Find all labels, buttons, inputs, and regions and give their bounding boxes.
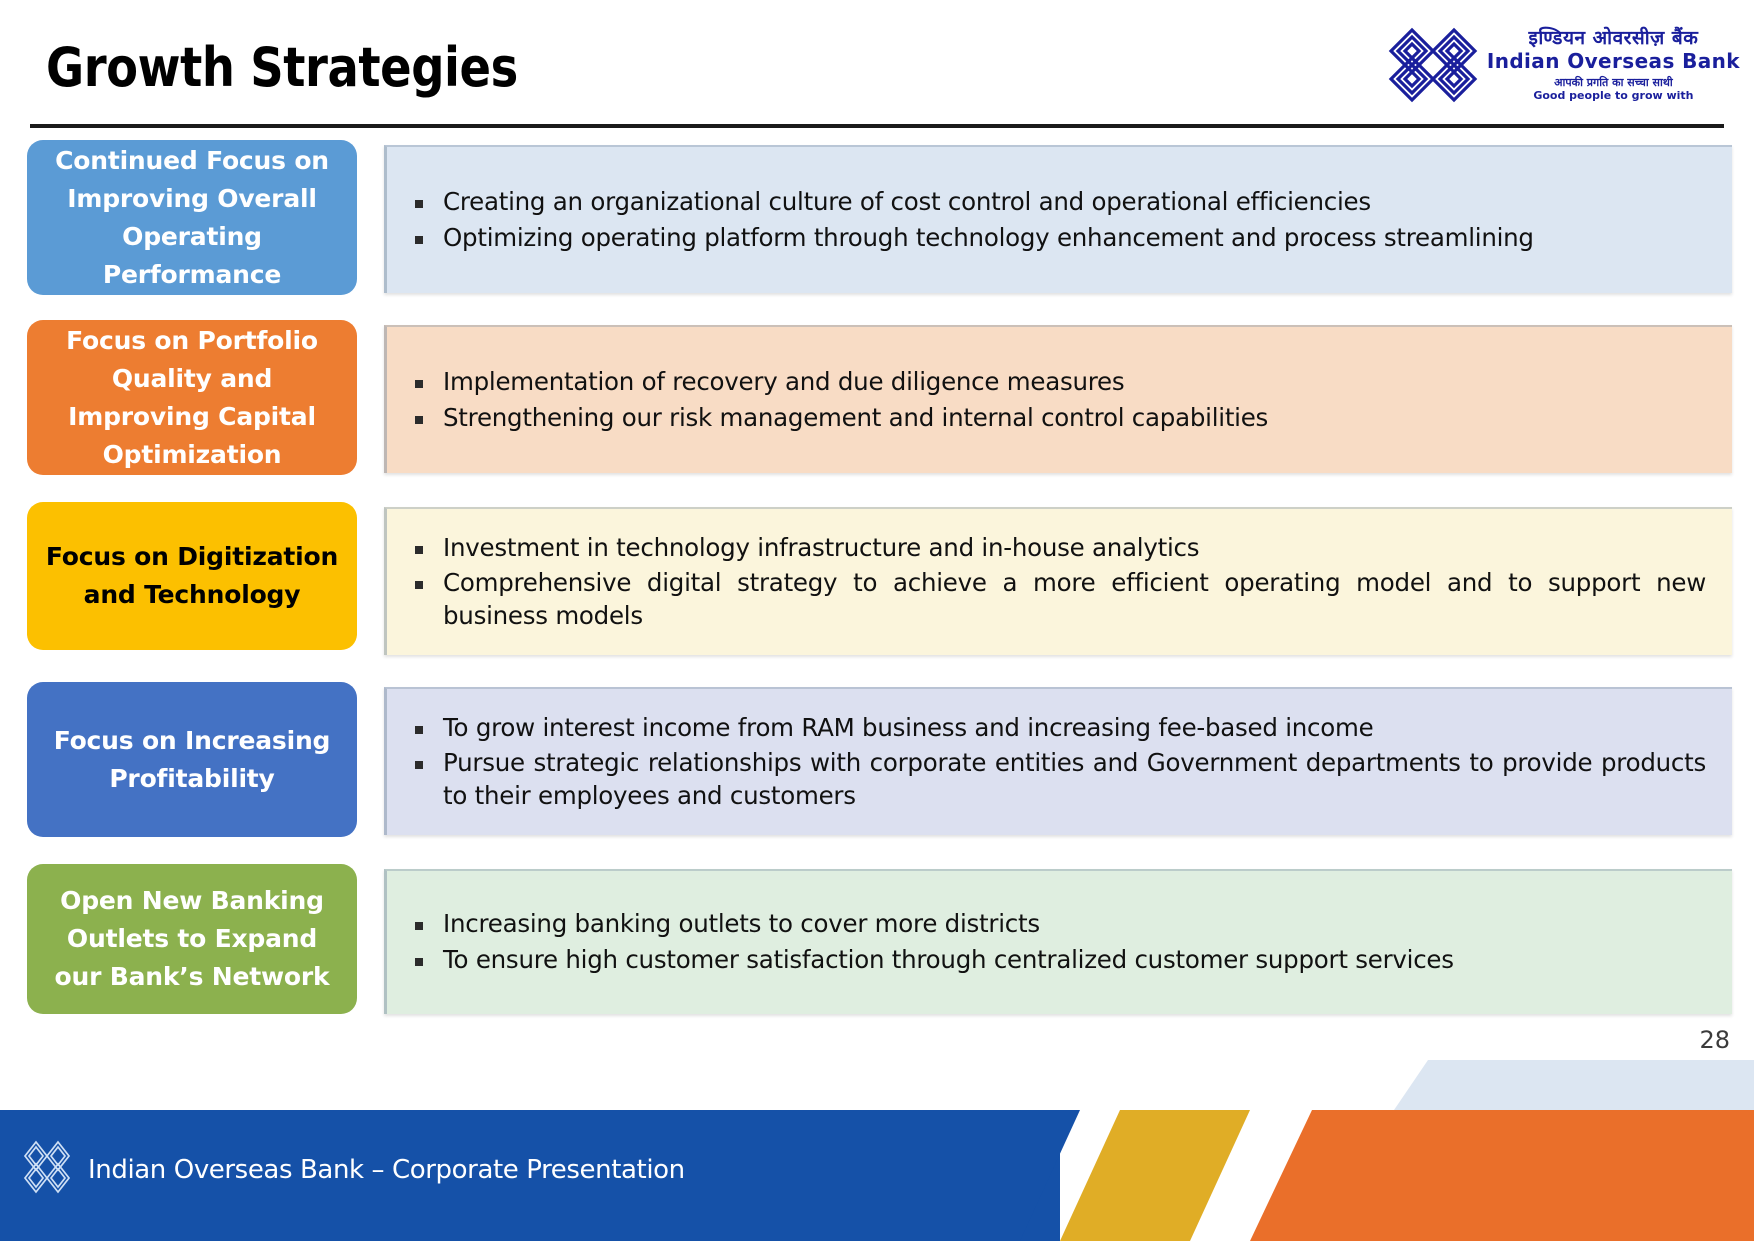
- bullet-list: To grow interest income from RAM busines…: [413, 709, 1706, 816]
- strategy-content-5: Increasing banking outlets to cover more…: [384, 869, 1732, 1014]
- strategy-label-3[interactable]: Focus on Digitization and Technology: [27, 502, 357, 650]
- slide: Growth Strategies: [0, 0, 1754, 1241]
- bullet-list: Increasing banking outlets to cover more…: [413, 905, 1706, 979]
- list-item: Increasing banking outlets to cover more…: [413, 908, 1706, 941]
- bullet-list: Implementation of recovery and due dilig…: [413, 363, 1706, 437]
- page-title: Growth Strategies: [46, 36, 518, 99]
- strategy-content-2: Implementation of recovery and due dilig…: [384, 325, 1732, 473]
- footer-logo-icon: [24, 1140, 70, 1208]
- footer-text: Indian Overseas Bank – Corporate Present…: [88, 1155, 685, 1185]
- footer-light-band: [1394, 1060, 1754, 1110]
- slide-footer: Indian Overseas Bank – Corporate Present…: [0, 1060, 1754, 1241]
- strategy-row: Focus on Increasing Profitability To gro…: [0, 682, 1754, 842]
- list-item: Implementation of recovery and due dilig…: [413, 366, 1706, 399]
- strategy-label-1[interactable]: Continued Focus on Improving Overall Ope…: [27, 140, 357, 295]
- footer-yellow-wedge: [1060, 1110, 1250, 1241]
- slide-header: Growth Strategies: [0, 0, 1754, 132]
- list-item: Optimizing operating platform through te…: [413, 222, 1706, 255]
- logo-hindi-name: इण्डियन ओवरसीज़ बैंक: [1529, 28, 1699, 50]
- logo-english-name: Indian Overseas Bank: [1487, 50, 1740, 73]
- list-item: Strengthening our risk management and in…: [413, 402, 1706, 435]
- header-divider: [30, 124, 1724, 128]
- logo-wordmark: इण्डियन ओवरसीज़ बैंक Indian Overseas Ban…: [1487, 24, 1740, 103]
- logo-hindi-tagline: आपकी प्रगति का सच्चा साथी: [1554, 77, 1673, 90]
- bank-logo: इण्डियन ओवरसीज़ बैंक Indian Overseas Ban…: [1387, 24, 1740, 106]
- strategy-row: Focus on Digitization and Technology Inv…: [0, 502, 1754, 662]
- strategy-content-4: To grow interest income from RAM busines…: [384, 687, 1732, 835]
- bullet-list: Creating an organizational culture of co…: [413, 183, 1706, 257]
- strategy-label-4[interactable]: Focus on Increasing Profitability: [27, 682, 357, 837]
- indian-overseas-bank-logo-icon: [1387, 24, 1479, 106]
- list-item: Pursue strategic relationships with corp…: [413, 747, 1706, 812]
- list-item: To grow interest income from RAM busines…: [413, 712, 1706, 745]
- logo-english-tagline: Good people to grow with: [1533, 89, 1693, 102]
- list-item: To ensure high customer satisfaction thr…: [413, 944, 1706, 977]
- page-number: 28: [1699, 1026, 1730, 1054]
- strategy-row: Continued Focus on Improving Overall Ope…: [0, 140, 1754, 300]
- list-item: Creating an organizational culture of co…: [413, 186, 1706, 219]
- strategy-row: Focus on Portfolio Quality and Improving…: [0, 320, 1754, 480]
- strategy-content-3: Investment in technology infrastructure …: [384, 507, 1732, 655]
- strategy-label-5[interactable]: Open New Banking Outlets to Expand our B…: [27, 864, 357, 1014]
- strategy-content-1: Creating an organizational culture of co…: [384, 145, 1732, 293]
- list-item: Comprehensive digital strategy to achiev…: [413, 567, 1706, 632]
- bullet-list: Investment in technology infrastructure …: [413, 529, 1706, 636]
- strategy-row: Open New Banking Outlets to Expand our B…: [0, 864, 1754, 1024]
- list-item: Investment in technology infrastructure …: [413, 532, 1706, 565]
- strategy-label-2[interactable]: Focus on Portfolio Quality and Improving…: [27, 320, 357, 475]
- footer-orange-wedge: [1250, 1110, 1754, 1241]
